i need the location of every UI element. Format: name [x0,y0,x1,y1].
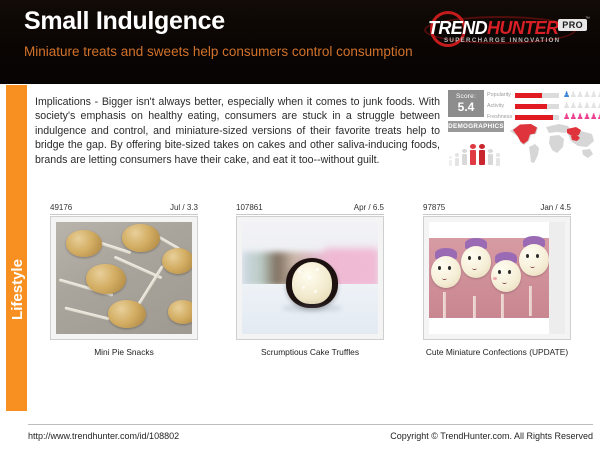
card-date-score: Apr / 6.5 [354,203,384,212]
mini-pie-snacks-photo [56,222,192,334]
trend-card[interactable]: 49176 Jul / 3.3 Mini Pie Snacks [50,203,198,358]
logo-tagline: SUPERCHARGE INNOVATION [444,37,560,44]
implications-text: Implications - Bigger isn't always bette… [35,95,440,167]
metric-activity-fill [515,104,547,110]
category-rail[interactable]: Lifestyle [6,85,27,411]
metric-activity-people-icon: ♟♟♟♟♟♟♟♟♟ [563,102,600,110]
page-title: Small Indulgence [24,7,225,36]
metric-popularity-track [515,93,559,99]
pedestrian-icon-2 [455,153,459,165]
metric-popularity-people-icon: ♟♟♟♟♟♟♟♟♟ [563,91,600,99]
metric-popularity: Popularity ♟♟♟♟♟♟♟♟♟ [487,91,591,99]
card-image-frame[interactable] [236,216,384,340]
card-image-frame[interactable] [423,216,571,340]
score-value: 5.4 [448,101,484,114]
logo-wordmark: TRENDHUNTER [428,18,558,39]
card-meta: 107861 Apr / 6.5 [236,203,384,216]
pedestrian-icon-3 [462,149,467,165]
card-image-frame[interactable] [50,216,198,340]
card-id: 97875 [423,203,445,212]
card-divider [423,214,571,215]
card-caption: Mini Pie Snacks [50,347,198,358]
category-rail-label: Lifestyle [9,232,26,347]
logo-pro-badge: PRO [558,19,587,31]
card-id: 107861 [236,203,263,212]
logo-word-trend: TREND [428,18,487,38]
pedestrian-icon-7 [496,153,500,165]
card-date-score: Jan / 4.5 [540,203,571,212]
card-divider [50,214,198,215]
card-divider [236,214,384,215]
trend-report-slide: Small Indulgence Miniature treats and sw… [0,0,600,450]
pedestrian-icon-4 [470,144,476,165]
trend-card[interactable]: 97875 Jan / 4.5 [423,203,571,358]
logo-trademark-icon: ™ [585,16,590,22]
pedestrian-icon-1 [449,156,452,165]
trend-card[interactable]: 107861 Apr / 6.5 Scrumptious Cake Truffl… [236,203,384,358]
world-map-icon [509,119,595,166]
stats-panel: Score: 5.4 Popularity ♟♟♟♟♟♟♟♟♟ Activity… [447,89,595,168]
trendhunter-pro-logo[interactable]: TRENDHUNTER PRO SUPERCHARGE INNOVATION ™ [422,12,590,52]
footer-divider [28,424,593,425]
footer-url[interactable]: http://www.trendhunter.com/id/108802 [28,431,179,441]
card-meta: 49176 Jul / 3.3 [50,203,198,216]
metric-popularity-fill [515,93,542,99]
demographics-people-icons [449,137,507,165]
footer-copyright: Copyright © TrendHunter.com. All Rights … [390,431,593,441]
pedestrian-icon-6 [488,149,493,165]
score-badge: Score: 5.4 [448,90,484,117]
card-meta: 97875 Jan / 4.5 [423,203,571,216]
metric-activity-track [515,104,559,110]
demographics-tag: DEMOGRAPHICS [448,121,504,132]
card-id: 49176 [50,203,72,212]
cake-truffle-photo [242,222,378,334]
metric-activity: Activity ♟♟♟♟♟♟♟♟♟ [487,102,591,110]
slide-header: Small Indulgence Miniature treats and sw… [0,0,600,84]
logo-word-hunter: HUNTER [487,18,558,38]
card-caption: Cute Miniature Confections (UPDATE) [423,347,571,358]
face-cake-pops-photo [429,222,565,334]
metric-activity-label: Activity [487,102,513,110]
metric-popularity-label: Popularity [487,91,513,99]
pedestrian-icon-5 [479,144,485,165]
page-subtitle: Miniature treats and sweets help consume… [24,42,414,61]
card-caption: Scrumptious Cake Truffles [236,347,384,358]
card-date-score: Jul / 3.3 [170,203,198,212]
